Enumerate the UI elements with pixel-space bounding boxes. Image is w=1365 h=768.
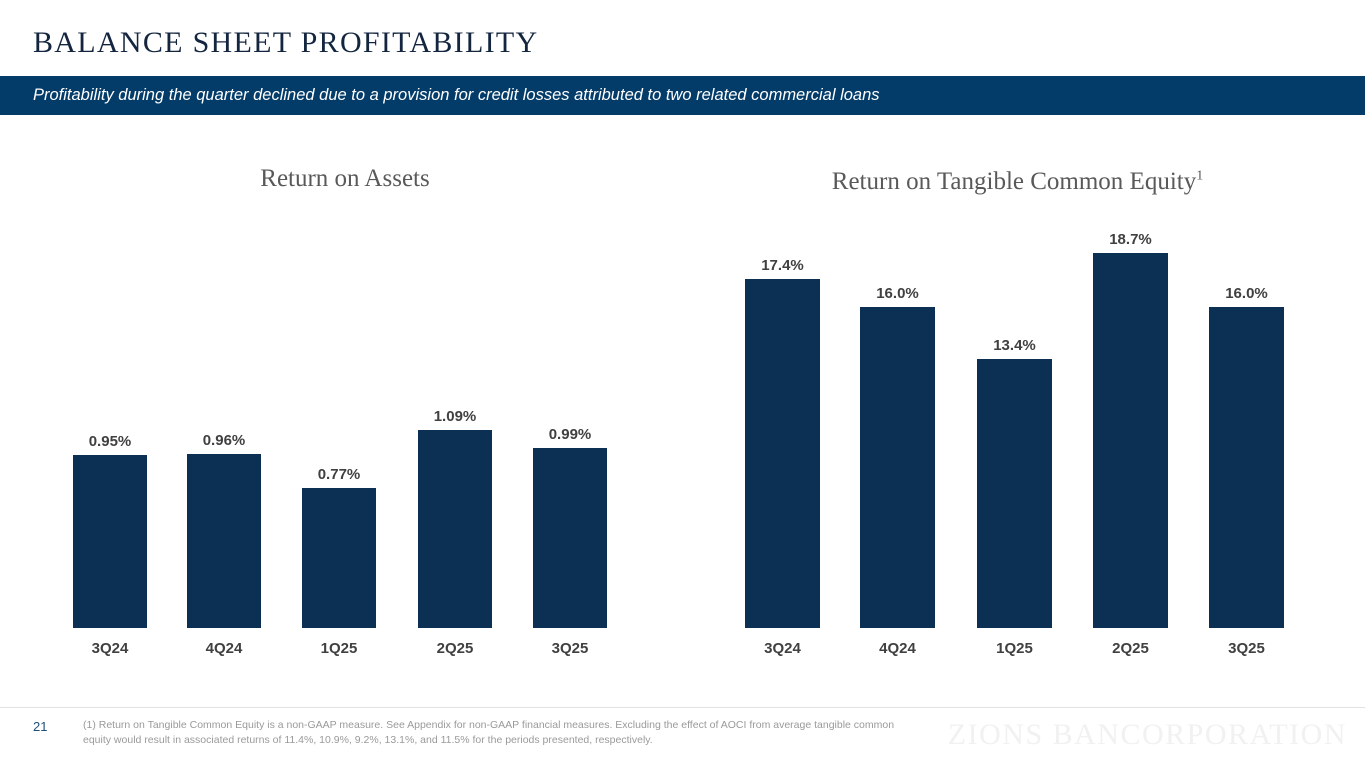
page-number: 21	[33, 719, 47, 734]
chart-return-on-tangible-common-equity: Return on Tangible Common Equity1 17.4%3…	[705, 150, 1330, 670]
bar-group: 0.99%3Q25	[533, 430, 607, 628]
bar-series-return-on-tangible-common-equity: 17.4%3Q2416.0%4Q2413.4%1Q2518.7%2Q2516.0…	[705, 253, 1330, 628]
bar-category-label: 1Q25	[977, 640, 1052, 657]
chart-title-return-on-tangible-common-equity: Return on Tangible Common Equity1	[705, 168, 1330, 196]
bar	[1093, 253, 1168, 628]
headline-banner: Profitability during the quarter decline…	[0, 76, 1365, 115]
bar	[533, 448, 607, 628]
bar-value-label: 17.4%	[745, 257, 820, 274]
bar-value-label: 16.0%	[1209, 285, 1284, 302]
bar-group: 16.0%4Q24	[860, 253, 935, 628]
bar-group: 1.09%2Q25	[418, 430, 492, 628]
bar-value-label: 0.95%	[73, 433, 147, 450]
bar-group: 0.77%1Q25	[302, 430, 376, 628]
brand-watermark: ZIONS BANCORPORATION	[948, 718, 1347, 752]
bar	[745, 279, 820, 628]
bar	[860, 307, 935, 628]
bar-category-label: 3Q24	[73, 640, 147, 657]
plot-area-return-on-assets: 0.95%3Q240.96%4Q240.77%1Q251.09%2Q250.99…	[35, 430, 655, 628]
bar-category-label: 4Q24	[187, 640, 261, 657]
bar	[977, 359, 1052, 628]
bar-group: 13.4%1Q25	[977, 253, 1052, 628]
bar-value-label: 18.7%	[1093, 231, 1168, 248]
bar-group: 0.95%3Q24	[73, 430, 147, 628]
footnote-text: (1) Return on Tangible Common Equity is …	[83, 718, 903, 748]
page-title: BALANCE SHEET PROFITABILITY	[33, 26, 538, 60]
bar-category-label: 2Q25	[1093, 640, 1168, 657]
bar	[1209, 307, 1284, 628]
bar	[73, 455, 147, 628]
bar-group: 18.7%2Q25	[1093, 253, 1168, 628]
bar-value-label: 0.96%	[187, 432, 261, 449]
bar-category-label: 1Q25	[302, 640, 376, 657]
bar-category-label: 3Q24	[745, 640, 820, 657]
slide-canvas: BALANCE SHEET PROFITABILITY Profitabilit…	[0, 0, 1365, 768]
bar-category-label: 2Q25	[418, 640, 492, 657]
bar	[302, 488, 376, 628]
chart-title-text: Return on Tangible Common Equity	[832, 168, 1196, 195]
bar-group: 17.4%3Q24	[745, 253, 820, 628]
chart-title-footnote-marker: 1	[1196, 169, 1203, 184]
bar-group: 0.96%4Q24	[187, 430, 261, 628]
chart-title-return-on-assets: Return on Assets	[35, 165, 655, 193]
bar-value-label: 0.77%	[302, 466, 376, 483]
bar-category-label: 3Q25	[1209, 640, 1284, 657]
chart-title-text: Return on Assets	[260, 165, 429, 192]
bar-group: 16.0%3Q25	[1209, 253, 1284, 628]
bar-value-label: 13.4%	[977, 337, 1052, 354]
bar-category-label: 3Q25	[533, 640, 607, 657]
chart-return-on-assets: Return on Assets 0.95%3Q240.96%4Q240.77%…	[35, 150, 655, 670]
bar-series-return-on-assets: 0.95%3Q240.96%4Q240.77%1Q251.09%2Q250.99…	[35, 430, 655, 628]
bar	[418, 430, 492, 628]
plot-area-return-on-tangible-common-equity: 17.4%3Q2416.0%4Q2413.4%1Q2518.7%2Q2516.0…	[705, 253, 1330, 628]
bar-value-label: 1.09%	[418, 408, 492, 425]
bar-category-label: 4Q24	[860, 640, 935, 657]
bar-value-label: 0.99%	[533, 426, 607, 443]
footer-divider	[0, 707, 1365, 708]
headline-banner-text: Profitability during the quarter decline…	[33, 76, 880, 115]
bar-value-label: 16.0%	[860, 285, 935, 302]
bar	[187, 454, 261, 628]
